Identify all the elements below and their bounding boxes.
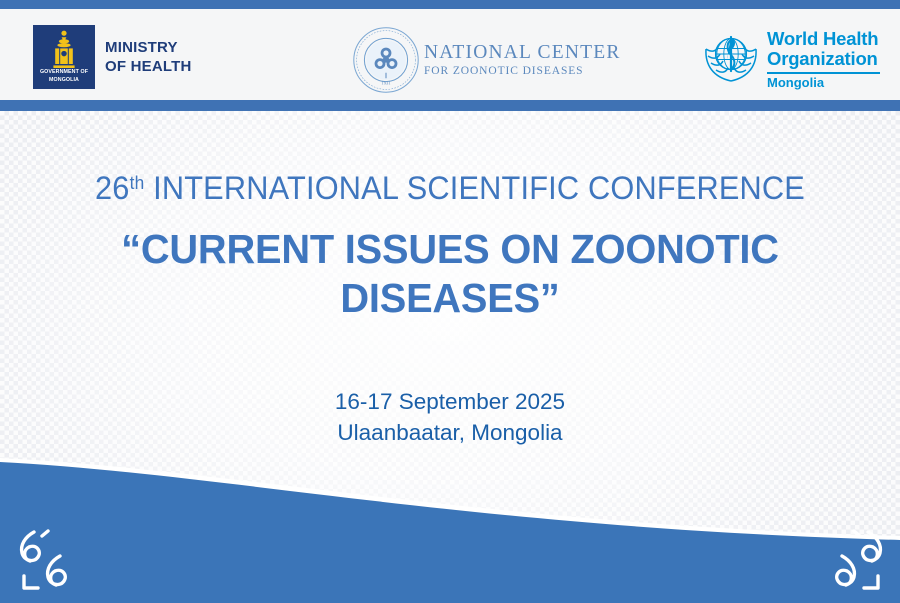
soyombo-icon (33, 29, 95, 71)
nczd-line-2: FOR ZOONOTIC DISEASES (424, 66, 621, 78)
top-accent-bar (0, 0, 900, 9)
conference-subtitle: 26th INTERNATIONAL SCIENTIFIC CONFERENCE (18, 169, 882, 207)
bottom-wave (0, 440, 900, 603)
who-country: Mongolia (767, 76, 880, 90)
mongolia-government-emblem: GOVERNMENT OF MONGOLIA (33, 25, 95, 89)
ministry-of-health-logo: GOVERNMENT OF MONGOLIA MINISTRY OF HEALT… (33, 25, 192, 89)
seal-year: 1931 (381, 81, 391, 86)
who-line-2: Organization (767, 49, 880, 69)
conference-poster: GOVERNMENT OF MONGOLIA MINISTRY OF HEALT… (0, 0, 900, 603)
header-separator-bar (0, 100, 900, 111)
who-logo: World Health Organization Mongolia (700, 29, 880, 90)
who-name: World Health Organization Mongolia (767, 29, 880, 90)
ulzii-knot-ornament-right (816, 528, 888, 594)
conference-subtitle-text: INTERNATIONAL SCIENTIFIC CONFERENCE (153, 170, 805, 206)
who-line-1: World Health (767, 29, 880, 49)
ministry-name: MINISTRY OF HEALTH (105, 38, 192, 76)
event-dates: 16-17 September 2025 (0, 386, 900, 417)
emblem-caption: GOVERNMENT OF MONGOLIA (33, 69, 95, 84)
conference-number: 26 (95, 170, 130, 206)
poster-text-block: 26th INTERNATIONAL SCIENTIFIC CONFERENCE… (0, 111, 900, 448)
who-emblem-icon (700, 29, 762, 87)
ulzii-knot-ornament-left (14, 528, 86, 594)
event-details: 16-17 September 2025 Ulaanbaatar, Mongol… (0, 386, 900, 448)
page-title: “CURRENT ISSUES ON ZOONOTIC DISEASES” (14, 225, 887, 323)
nczd-line-1: NATIONAL CENTER (424, 43, 621, 63)
logo-row: GOVERNMENT OF MONGOLIA MINISTRY OF HEALT… (0, 9, 900, 100)
header-band: GOVERNMENT OF MONGOLIA MINISTRY OF HEALT… (0, 9, 900, 100)
conference-ordinal: th (130, 173, 145, 193)
national-center-logo: 1931 NATIONAL CENTER FOR ZOONOTIC DISEAS… (352, 26, 621, 94)
biohazard-seal-icon: 1931 (352, 26, 420, 94)
who-divider (767, 72, 880, 74)
national-center-name: NATIONAL CENTER FOR ZOONOTIC DISEASES (424, 43, 621, 78)
